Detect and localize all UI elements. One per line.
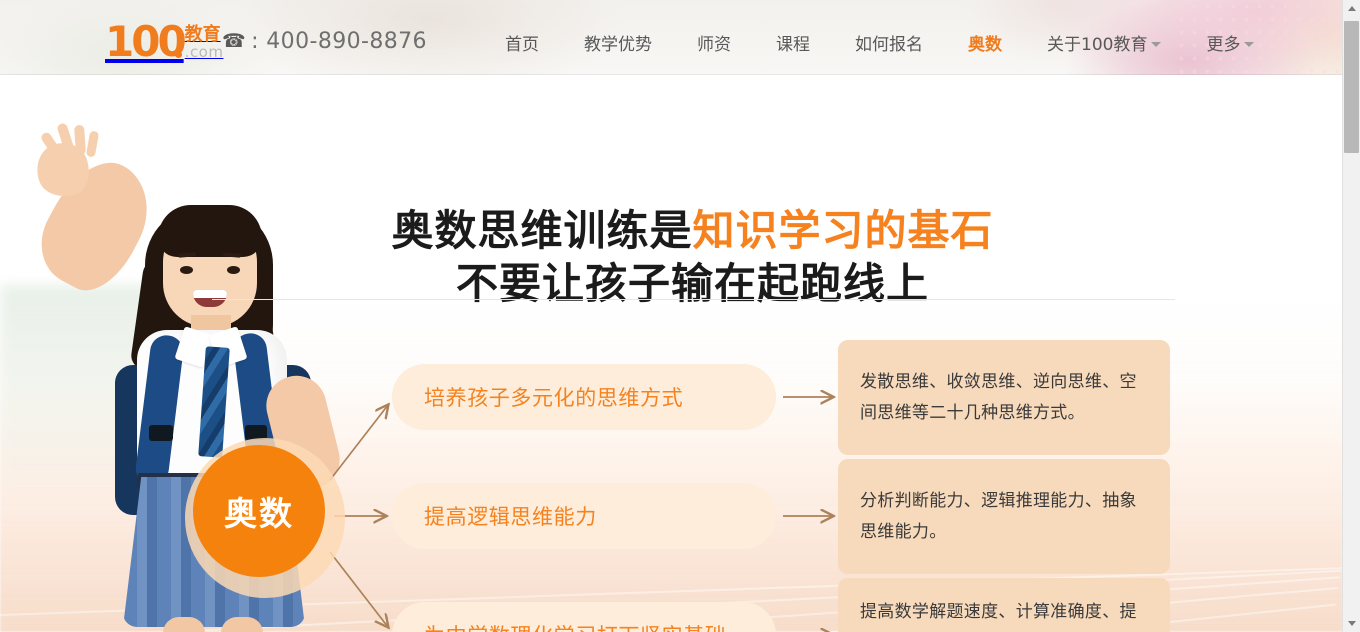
center-node-label: 奥数 xyxy=(224,487,294,535)
nav-item-about[interactable]: 关于100教育 xyxy=(1047,30,1161,55)
logo-100-text: 100 xyxy=(105,24,184,60)
logo-dot-icon xyxy=(175,51,182,58)
page-root: 100 教育 .com ☎ : 400-890-8876 首页 教学优势 师资 … xyxy=(0,0,1343,632)
nav-label: 教学优势 xyxy=(584,30,652,55)
chevron-down-icon xyxy=(1151,42,1161,47)
center-node-olympiad-math[interactable]: 奥数 xyxy=(193,445,325,577)
vertical-scrollbar[interactable] xyxy=(1342,0,1360,632)
logo-wordmark: 教育 .com xyxy=(185,26,224,60)
nav-label: 更多 xyxy=(1206,30,1240,55)
nav-item-faculty[interactable]: 师资 xyxy=(697,30,731,55)
branch-detail-3: 提高数学解题速度、计算准确度、提升对物理、化学的深层次理解和学习效率。 xyxy=(838,578,1170,632)
branch-detail-1: 发散思维、收敛思维、逆向思维、空间思维等二十几种思维方式。 xyxy=(838,340,1170,455)
branch-pill-3[interactable]: 为中学数理化学习打下坚实基础 xyxy=(392,602,776,632)
branch-detail-1-text: 发散思维、收敛思维、逆向思维、空间思维等二十几种思维方式。 xyxy=(860,367,1148,429)
nav-label: 师资 xyxy=(697,30,731,55)
nav-label: 关于100教育 xyxy=(1047,30,1147,55)
hero-banner: 奥数思维训练是知识学习的基石 不要让孩子输在起跑线上 奥数 xyxy=(0,75,1343,632)
concept-diagram: 奥数 培养孩子多元化的思维方式 提高逻辑思维能力 为中学数理化学习打下坚实基础 … xyxy=(0,75,1343,632)
chevron-down-icon xyxy=(1244,42,1254,47)
nav-label: 首页 xyxy=(505,30,539,55)
branch-pill-1-label: 培养孩子多元化的思维方式 xyxy=(392,382,683,412)
site-header: 100 教育 .com ☎ : 400-890-8876 首页 教学优势 师资 … xyxy=(0,0,1343,75)
nav-item-more[interactable]: 更多 xyxy=(1206,30,1254,55)
arrow-center-to-pill-3 xyxy=(330,552,388,627)
main-navigation: 首页 教学优势 师资 课程 如何报名 奥数 关于100教育 更多 xyxy=(505,30,1254,55)
logo-edu-text: 教育 xyxy=(185,26,224,44)
scrollbar-thumb[interactable] xyxy=(1344,21,1359,153)
logo-com-text: .com xyxy=(185,45,224,60)
nav-label: 奥数 xyxy=(968,30,1002,55)
telephone-icon: ☎ xyxy=(222,32,246,51)
branch-pill-2[interactable]: 提高逻辑思维能力 xyxy=(392,483,776,549)
phone-number: : 400-890-8876 xyxy=(251,29,427,54)
nav-item-how-to-enroll[interactable]: 如何报名 xyxy=(855,30,923,55)
branch-pill-2-label: 提高逻辑思维能力 xyxy=(392,501,597,531)
branch-pill-3-label: 为中学数理化学习打下坚实基础 xyxy=(392,620,726,632)
branch-detail-3-text: 提高数学解题速度、计算准确度、提升对物理、化学的深层次理解和学习效率。 xyxy=(860,597,1148,632)
nav-label: 如何报名 xyxy=(855,30,923,55)
nav-label: 课程 xyxy=(776,30,810,55)
scroll-up-arrow-icon[interactable] xyxy=(1343,0,1360,17)
header-phone: ☎ : 400-890-8876 xyxy=(222,29,427,54)
nav-item-teaching-advantage[interactable]: 教学优势 xyxy=(584,30,652,55)
site-logo[interactable]: 100 教育 .com xyxy=(105,24,223,60)
nav-item-olympiad-math[interactable]: 奥数 xyxy=(968,30,1002,55)
nav-item-home[interactable]: 首页 xyxy=(505,30,539,55)
arrow-center-to-pill-1 xyxy=(330,405,388,480)
branch-detail-2-text: 分析判断能力、逻辑推理能力、抽象思维能力。 xyxy=(860,486,1148,548)
branch-detail-2: 分析判断能力、逻辑推理能力、抽象思维能力。 xyxy=(838,459,1170,574)
nav-item-courses[interactable]: 课程 xyxy=(776,30,810,55)
scroll-down-arrow-icon[interactable] xyxy=(1343,615,1360,632)
logo-number: 100 xyxy=(105,17,184,66)
branch-pill-1[interactable]: 培养孩子多元化的思维方式 xyxy=(392,364,776,430)
